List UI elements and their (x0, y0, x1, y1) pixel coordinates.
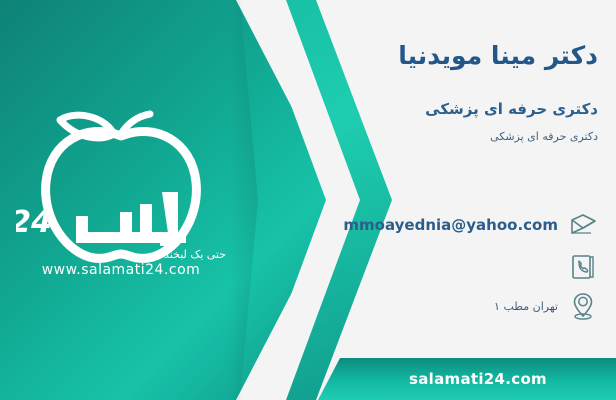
envelope-icon (568, 208, 598, 242)
email-value[interactable]: mmoayednia@yahoo.com (343, 216, 558, 234)
address-value[interactable]: تهران مطب ۱ (494, 300, 558, 313)
apple-logo-icon: 24 براحتی یک لبخند www.salamati24.com (16, 108, 226, 278)
logo-24-badge: 24 (16, 205, 52, 240)
phone-book-icon (568, 250, 598, 284)
doctor-specialty-sub: دکتری حرفه ای پزشکی (248, 130, 598, 143)
footer-bar: salamati24.com (340, 358, 616, 400)
map-pin-icon (568, 289, 598, 323)
svg-text:24: 24 (16, 205, 52, 240)
contact-row-phone[interactable] (558, 250, 598, 284)
doctor-specialty: دکتری حرفه ای پزشکی (248, 100, 598, 118)
business-card: 24 براحتی یک لبخند www.salamati24.com دک… (0, 0, 616, 400)
card-content: دکتر مینا مویدنیا دکتری حرفه ای پزشکی دک… (248, 0, 598, 400)
doctor-name: دکتر مینا مویدنیا (248, 40, 598, 71)
contact-row-email[interactable]: mmoayednia@yahoo.com (343, 208, 598, 242)
contact-row-address[interactable]: تهران مطب ۱ (494, 289, 598, 323)
logo-tagline: براحتی یک لبخند (164, 248, 226, 261)
footer-url[interactable]: salamati24.com (409, 370, 547, 388)
logo-url[interactable]: www.salamati24.com (42, 262, 201, 278)
brand-logo[interactable]: 24 براحتی یک لبخند www.salamati24.com (16, 108, 226, 278)
